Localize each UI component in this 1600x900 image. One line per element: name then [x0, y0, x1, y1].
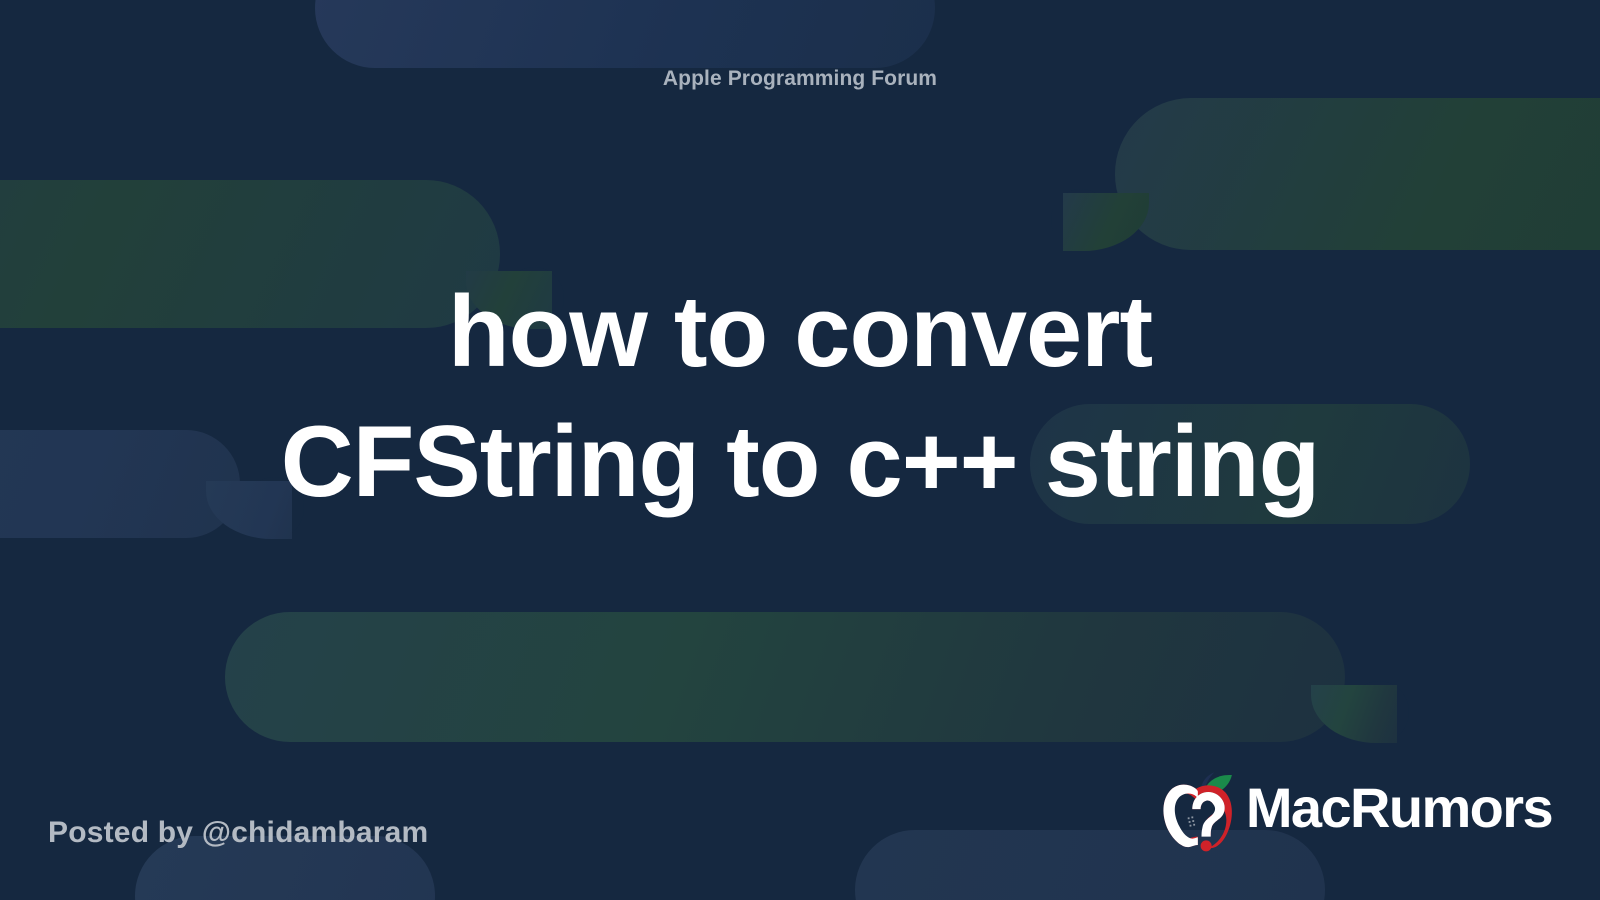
card-footer: Posted by @chidambaram	[48, 764, 1552, 856]
page-title: how to convert CFString to c++ string	[228, 268, 1372, 527]
macrumors-logo: MacRumors	[1150, 764, 1552, 856]
brand-wordmark: MacRumors	[1246, 780, 1552, 840]
card-content: Apple Programming Forum how to convert C…	[0, 0, 1600, 900]
macrumors-apple-question-logo-icon	[1150, 764, 1242, 856]
forum-label: Apple Programming Forum	[48, 66, 1552, 91]
posted-by-label: Posted by @chidambaram	[48, 816, 428, 856]
post-title-container: how to convert CFString to c++ string	[48, 91, 1552, 764]
social-share-card: Apple Programming Forum how to convert C…	[0, 0, 1600, 900]
